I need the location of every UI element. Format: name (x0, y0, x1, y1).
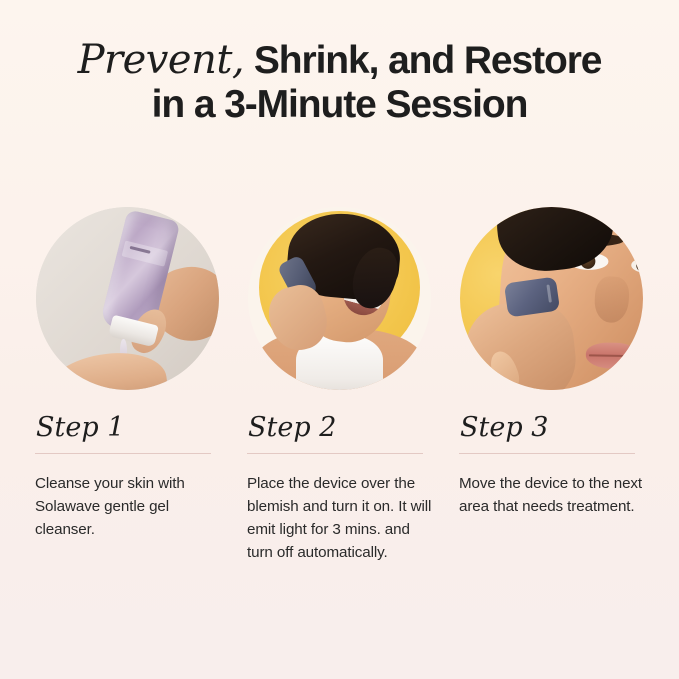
photo-3-finger (486, 348, 523, 390)
step-1-label: Step 1 (35, 414, 220, 441)
step-2-label: Step 2 (247, 414, 432, 441)
photo-column-1 (35, 207, 220, 390)
photo-3-nose (593, 276, 630, 324)
step-2-divider (247, 453, 423, 454)
page-title: Prevent, Shrink, and Restore in a 3-Minu… (0, 38, 679, 126)
step-2-photo (248, 207, 431, 390)
photo-column-3 (459, 207, 644, 390)
photo-1-tube-label (121, 240, 168, 266)
step-1: Step 1 Cleanse your skin with Solawave g… (35, 414, 220, 564)
photo-3-lips (586, 343, 638, 370)
photo-row (0, 207, 679, 390)
step-1-divider (35, 453, 211, 454)
step-1-photo (36, 207, 219, 390)
step-3-label: Step 3 (459, 414, 644, 441)
step-2-body: Place the device over the blemish and tu… (247, 472, 432, 564)
step-2: Step 2 Place the device over the blemish… (247, 414, 432, 564)
photo-3-lip-line (589, 355, 635, 358)
photo-3-brow-right (630, 241, 643, 252)
headline-line-2: in a 3-Minute Session (0, 83, 679, 127)
photo-3-eye-right (631, 258, 643, 274)
step-1-body: Cleanse your skin with Solawave gentle g… (35, 472, 220, 541)
step-caption-row: Step 1 Cleanse your skin with Solawave g… (0, 414, 679, 564)
step-3-photo (460, 207, 643, 390)
photo-3-iris-right (636, 259, 643, 272)
step-3-body: Move the device to the next area that ne… (459, 472, 644, 518)
headline-bold-rest: Shrink, and Restore (244, 39, 601, 82)
infographic-page: Prevent, Shrink, and Restore in a 3-Minu… (0, 0, 679, 679)
step-3-divider (459, 453, 635, 454)
photo-column-2 (247, 207, 432, 390)
step-3: Step 3 Move the device to the next area … (459, 414, 644, 564)
headline-line-1: Prevent, Shrink, and Restore (0, 38, 679, 83)
headline-italic-word: Prevent, (78, 37, 245, 83)
